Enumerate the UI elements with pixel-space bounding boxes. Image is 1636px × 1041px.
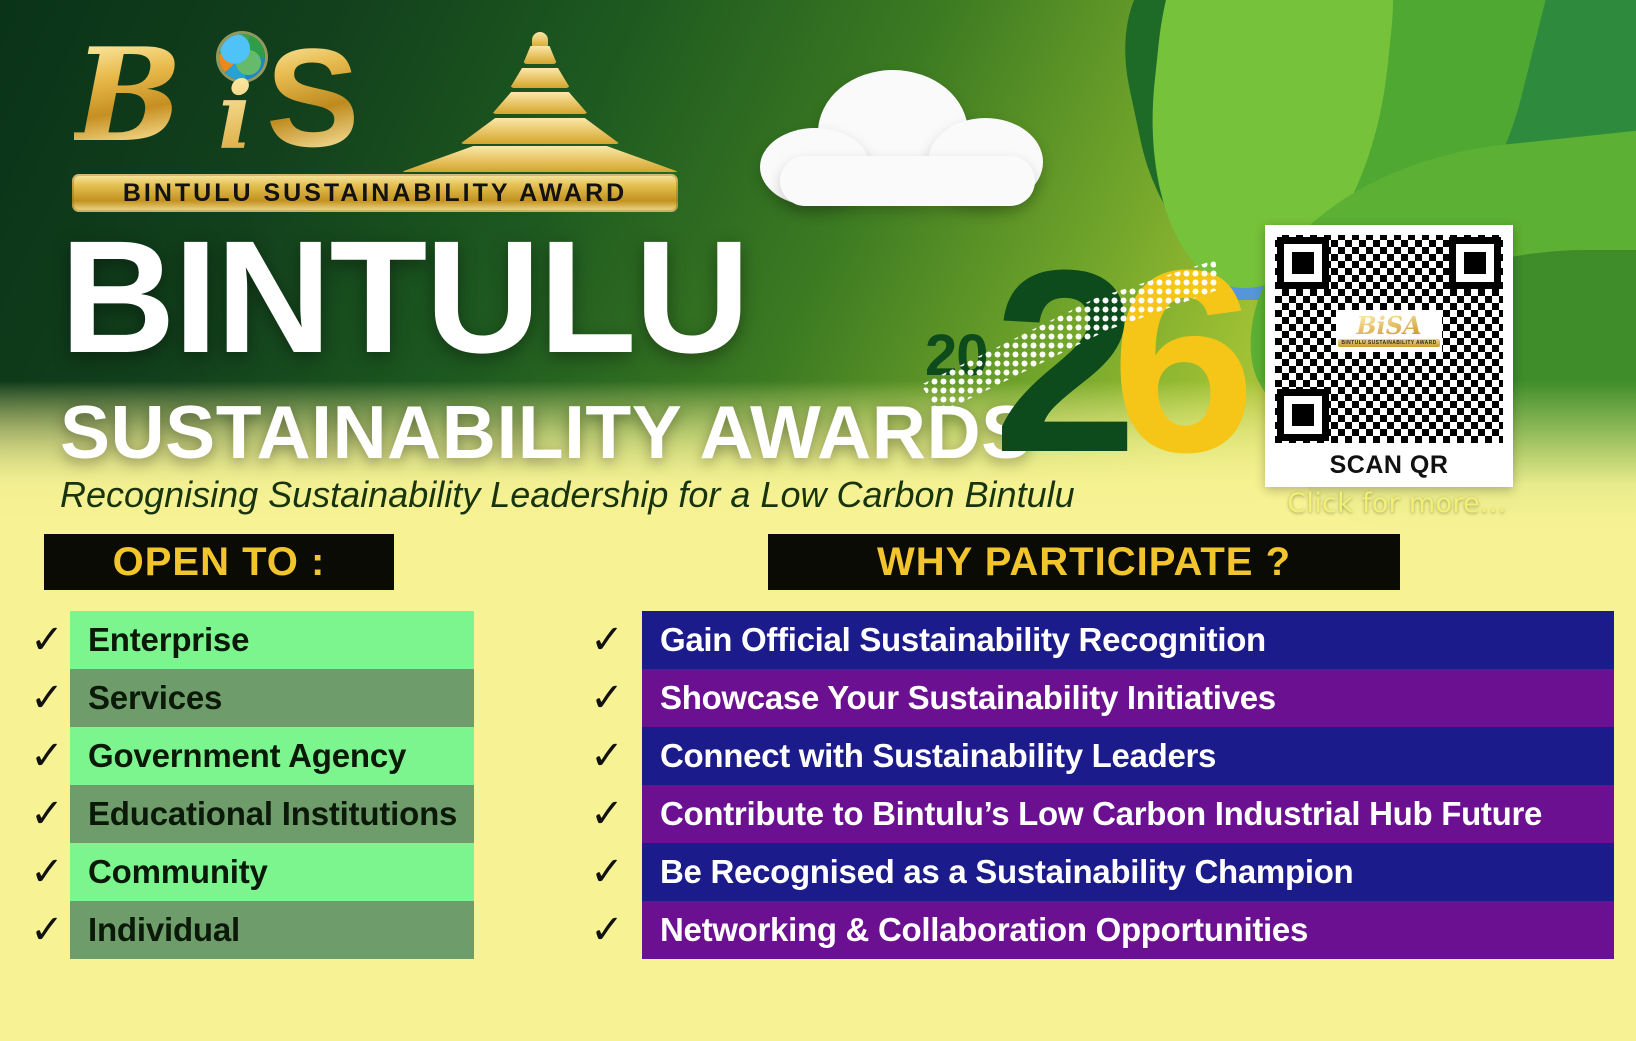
why-participate-item: ✓Networking & Collaboration Opportunitie… — [572, 901, 1614, 959]
open-to-item-label: Government Agency — [88, 737, 406, 775]
why-participate-banner-text: WHY PARTICIPATE ? — [877, 540, 1291, 585]
open-to-item-label: Individual — [88, 911, 240, 949]
why-participate-item-label: Connect with Sustainability Leaders — [660, 737, 1216, 775]
checkmark-icon: ✓ — [572, 901, 642, 959]
checkmark-icon: ✓ — [24, 901, 70, 959]
open-to-item-bar: Government Agency — [70, 727, 474, 785]
open-to-item: ✓Services — [24, 669, 474, 727]
open-to-item-label: Enterprise — [88, 621, 249, 659]
qr-click-link[interactable]: Click for more... — [1272, 488, 1522, 519]
open-to-item-bar: Individual — [70, 901, 474, 959]
open-to-banner: OPEN TO : — [44, 534, 394, 590]
qr-caption: SCAN QR — [1275, 443, 1503, 487]
qr-code-card[interactable]: BiSA BINTULU SUSTAINABILITY AWARD SCAN Q… — [1265, 225, 1513, 487]
why-participate-item-bar: Connect with Sustainability Leaders — [642, 727, 1614, 785]
why-participate-item: ✓Be Recognised as a Sustainability Champ… — [572, 843, 1614, 901]
open-to-item: ✓Government Agency — [24, 727, 474, 785]
why-participate-banner: WHY PARTICIPATE ? — [768, 534, 1400, 590]
checkmark-icon: ✓ — [24, 611, 70, 669]
qr-finder-top-right — [1449, 237, 1501, 289]
page-subtitle: SUSTAINABILITY AWARDS — [60, 395, 1032, 470]
page-title: BINTULU — [60, 222, 748, 372]
open-to-list: ✓Enterprise✓Services✓Government Agency✓E… — [24, 611, 474, 959]
open-to-item-bar: Enterprise — [70, 611, 474, 669]
why-participate-item: ✓Connect with Sustainability Leaders — [572, 727, 1614, 785]
why-participate-item-label: Be Recognised as a Sustainability Champi… — [660, 853, 1353, 891]
why-participate-item-bar: Networking & Collaboration Opportunities — [642, 901, 1614, 959]
qr-finder-top-left — [1277, 237, 1329, 289]
open-to-item-bar: Community — [70, 843, 474, 901]
checkmark-icon: ✓ — [572, 611, 642, 669]
checkmark-icon: ✓ — [572, 727, 642, 785]
poster-root: B i S BINTULU SUSTAINABILITY AWARD BINTU… — [0, 0, 1636, 1041]
qr-center-logo: BiSA BINTULU SUSTAINABILITY AWARD — [1336, 310, 1442, 352]
logo-letter-s: S — [266, 28, 355, 168]
checkmark-icon: ✓ — [572, 785, 642, 843]
open-to-item-bar: Educational Institutions — [70, 785, 474, 843]
cloud-icon — [760, 70, 1050, 205]
why-participate-list: ✓Gain Official Sustainability Recognitio… — [572, 611, 1614, 959]
open-to-banner-text: OPEN TO : — [113, 540, 326, 585]
qr-finder-bottom-left — [1277, 389, 1329, 441]
why-participate-item-label: Contribute to Bintulu’s Low Carbon Indus… — [660, 795, 1542, 833]
open-to-item: ✓Enterprise — [24, 611, 474, 669]
why-participate-item-label: Showcase Your Sustainability Initiatives — [660, 679, 1276, 717]
checkmark-icon: ✓ — [24, 669, 70, 727]
pyramid-tower-icon — [400, 30, 680, 170]
logo-letter-b: B — [74, 32, 182, 160]
logo-banner-text: BINTULU SUSTAINABILITY AWARD — [123, 179, 627, 208]
why-participate-item: ✓Gain Official Sustainability Recognitio… — [572, 611, 1614, 669]
checkmark-icon: ✓ — [572, 669, 642, 727]
logo-letter-i: i — [218, 70, 253, 162]
open-to-item-bar: Services — [70, 669, 474, 727]
why-participate-item: ✓Contribute to Bintulu’s Low Carbon Indu… — [572, 785, 1614, 843]
year-2026-graphic: 6 2 20 — [915, 240, 1235, 505]
checkmark-icon: ✓ — [24, 843, 70, 901]
open-to-item-label: Community — [88, 853, 268, 891]
year-digit-six: 6 — [1111, 232, 1246, 492]
why-participate-item: ✓Showcase Your Sustainability Initiative… — [572, 669, 1614, 727]
checkmark-icon: ✓ — [24, 785, 70, 843]
qr-logo-banner: BINTULU SUSTAINABILITY AWARD — [1338, 339, 1439, 347]
bisa-logo: B i S BINTULU SUSTAINABILITY AWARD — [70, 22, 680, 217]
open-to-item: ✓Community — [24, 843, 474, 901]
open-to-item: ✓Individual — [24, 901, 474, 959]
open-to-item: ✓Educational Institutions — [24, 785, 474, 843]
why-participate-item-bar: Be Recognised as a Sustainability Champi… — [642, 843, 1614, 901]
open-to-item-label: Services — [88, 679, 222, 717]
why-participate-item-bar: Showcase Your Sustainability Initiatives — [642, 669, 1614, 727]
checkmark-icon: ✓ — [24, 727, 70, 785]
open-to-item-label: Educational Institutions — [88, 795, 457, 833]
why-participate-item-bar: Contribute to Bintulu’s Low Carbon Indus… — [642, 785, 1614, 843]
bisa-logo-mark: B i S — [70, 22, 680, 172]
why-participate-item-label: Networking & Collaboration Opportunities — [660, 911, 1308, 949]
qr-logo-letters: BiSA — [1356, 314, 1421, 338]
why-participate-item-label: Gain Official Sustainability Recognition — [660, 621, 1266, 659]
qr-code-icon[interactable]: BiSA BINTULU SUSTAINABILITY AWARD — [1275, 235, 1503, 443]
why-participate-item-bar: Gain Official Sustainability Recognition — [642, 611, 1614, 669]
checkmark-icon: ✓ — [572, 843, 642, 901]
